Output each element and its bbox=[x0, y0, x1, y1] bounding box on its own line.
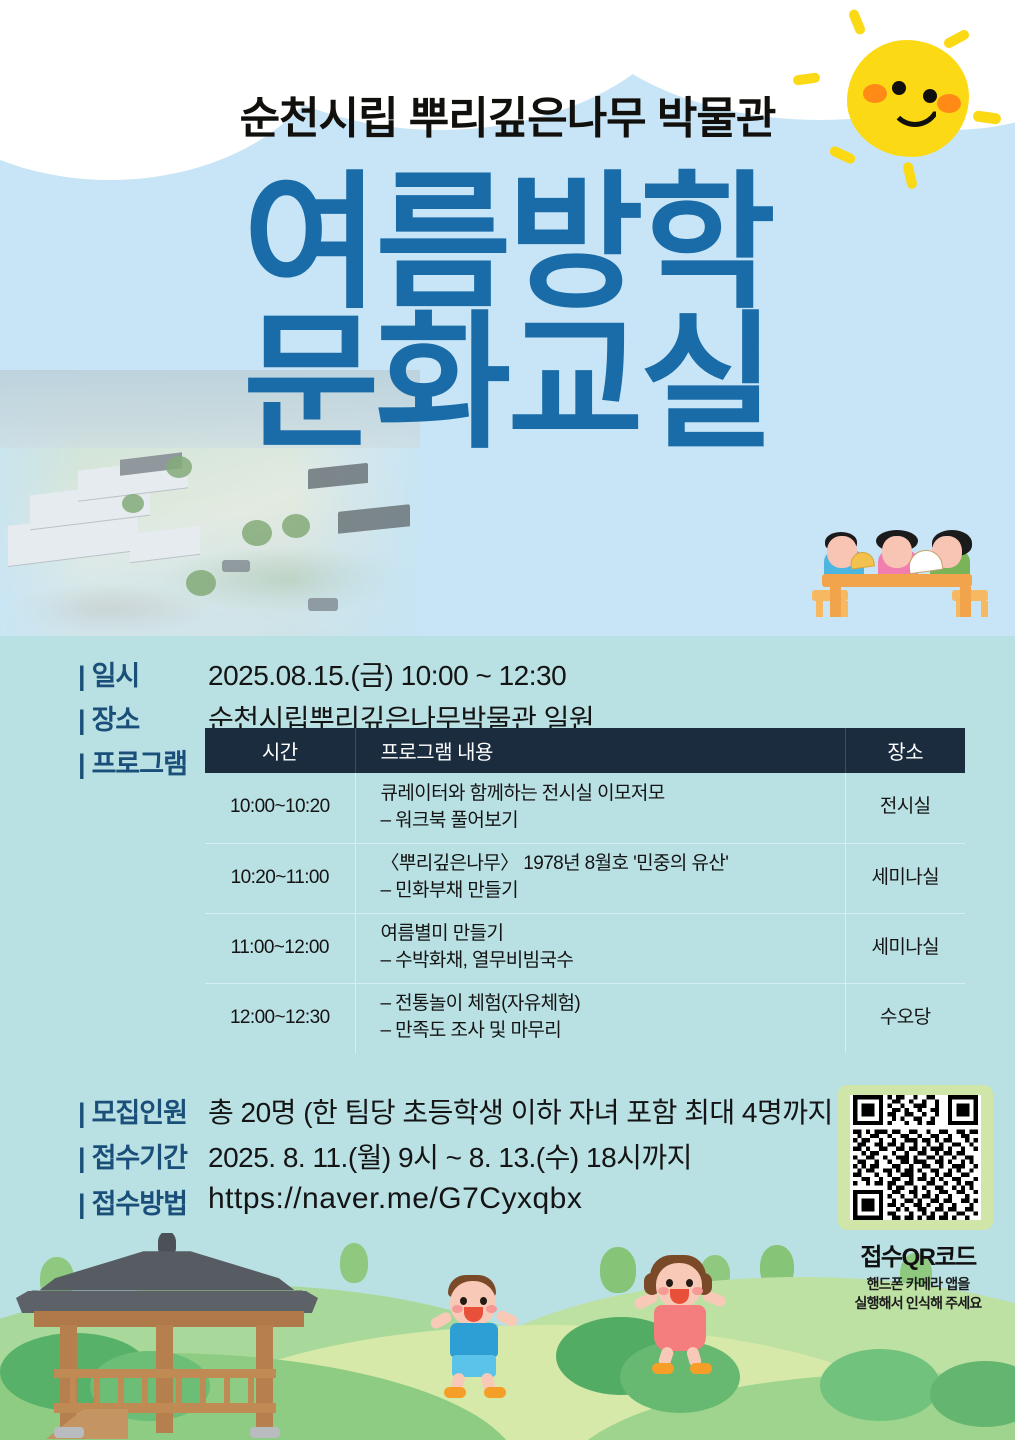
label-place-text: 장소 bbox=[92, 705, 140, 735]
th-place: 장소 bbox=[845, 728, 965, 773]
table-top bbox=[822, 574, 972, 587]
boy-shoe bbox=[444, 1387, 466, 1398]
label-method: |접수방법 bbox=[78, 1182, 208, 1221]
boy-eye-icon bbox=[480, 1297, 487, 1305]
boy-cheek-icon bbox=[452, 1305, 463, 1313]
label-method-text: 접수방법 bbox=[92, 1189, 187, 1219]
tree-shape bbox=[340, 1243, 368, 1283]
stool-leg bbox=[816, 601, 823, 617]
running-girl-illustration bbox=[640, 1255, 730, 1375]
qr-sub-line-2: 실행해서 인식해 주세요 bbox=[838, 1294, 998, 1313]
info-row-period: |접수기간 2025. 8. 11.(월) 9시 ~ 8. 13.(수) 18시… bbox=[78, 1136, 692, 1176]
boy-shoe bbox=[484, 1387, 506, 1398]
korean-pavilion bbox=[18, 1233, 318, 1439]
photo-hanok bbox=[308, 463, 368, 489]
sun-ray bbox=[828, 145, 857, 165]
info-row-program: |프로그램 bbox=[78, 742, 208, 781]
pavilion-finial bbox=[158, 1233, 176, 1253]
table-header-row: 시간 프로그램 내용 장소 bbox=[205, 728, 965, 773]
label-date: |일시 bbox=[78, 654, 208, 693]
bush-shape bbox=[820, 1349, 940, 1421]
cell-place: 세미나실 bbox=[845, 913, 965, 983]
museum-name: 순천시립 뿌리깊은나무 박물관 bbox=[0, 82, 1015, 146]
pavilion-baluster bbox=[248, 1378, 254, 1403]
capacity-pre: 총 20명 (한 팀당 초등학생 이하 자녀 포함 최대 4명까지 bbox=[208, 1097, 840, 1128]
pavilion-base-stone bbox=[250, 1427, 280, 1438]
photo-car bbox=[308, 598, 338, 611]
bar-mark: | bbox=[78, 1143, 85, 1173]
photo-car bbox=[222, 560, 250, 572]
table-leg bbox=[830, 587, 841, 617]
cell-detail: – 전통놀이 체험(자유체험) – 만족도 조사 및 마무리 bbox=[355, 983, 845, 1053]
poster-root: 순천시립 뿌리깊은나무 박물관 여름방학 문화교실 |일시 2025.08.15… bbox=[0, 0, 1015, 1440]
pavilion-base-stone bbox=[54, 1427, 84, 1438]
cell-time: 11:00~12:00 bbox=[205, 913, 355, 983]
table-leg bbox=[960, 587, 971, 617]
stool-leg bbox=[841, 601, 848, 617]
girl-eye-icon bbox=[686, 1279, 693, 1287]
child-head bbox=[882, 536, 912, 568]
title-line-1: 여름방학 bbox=[0, 176, 1015, 312]
page-title: 여름방학 문화교실 bbox=[0, 176, 1015, 452]
qr-instructions: 핸드폰 카메라 앱을 실행해서 인식해 주세요 bbox=[838, 1275, 998, 1313]
pavilion-column bbox=[256, 1325, 273, 1433]
qr-sub-line-1: 핸드폰 카메라 앱을 bbox=[838, 1275, 998, 1294]
photo-tree bbox=[282, 514, 310, 538]
girl-shoe bbox=[652, 1363, 674, 1374]
detail-line-2: – 수박화채, 열무비빔국수 bbox=[381, 948, 845, 975]
boy-arm bbox=[495, 1309, 520, 1328]
pavilion-baluster bbox=[70, 1378, 76, 1403]
detail-line-2: – 민화부채 만들기 bbox=[381, 878, 845, 905]
pavilion-railing bbox=[54, 1369, 276, 1378]
sun-ray bbox=[847, 8, 866, 36]
running-boy-illustration bbox=[434, 1275, 524, 1395]
photo-tree bbox=[186, 570, 216, 596]
cell-place: 전시실 bbox=[845, 773, 965, 843]
label-period-text: 접수기간 bbox=[92, 1143, 187, 1173]
qr-panel bbox=[838, 1085, 993, 1230]
bar-mark: | bbox=[78, 661, 85, 691]
label-date-text: 일시 bbox=[92, 661, 140, 691]
boy-cheek-icon bbox=[486, 1305, 497, 1313]
label-place: |장소 bbox=[78, 698, 208, 737]
detail-line-1: – 전통놀이 체험(자유체험) bbox=[381, 991, 845, 1018]
label-period: |접수기간 bbox=[78, 1136, 208, 1175]
qr-title: 접수QR코드 bbox=[838, 1237, 998, 1272]
pavilion-baluster bbox=[176, 1378, 182, 1403]
pavilion-column bbox=[156, 1325, 173, 1433]
table-row: 10:20~11:00 〈뿌리깊은나무〉 1978년 8월호 '민중의 유산' … bbox=[205, 843, 965, 913]
cell-detail: 여름별미 만들기 – 수박화채, 열무비빔국수 bbox=[355, 913, 845, 983]
value-period: 2025. 8. 11.(월) 9시 ~ 8. 13.(수) 18시까지 bbox=[208, 1136, 692, 1176]
pavilion-eave bbox=[16, 1291, 318, 1313]
photo-building bbox=[130, 526, 200, 563]
detail-line-1: 〈뿌리깊은나무〉 1978년 8월호 '민중의 유산' bbox=[381, 851, 845, 878]
girl-shoe bbox=[690, 1363, 712, 1374]
qr-section: 접수QR코드 핸드폰 카메라 앱을 실행해서 인식해 주세요 bbox=[838, 1085, 998, 1313]
value-date: 2025.08.15.(금) 10:00 ~ 12:30 bbox=[208, 654, 566, 694]
bar-mark: | bbox=[78, 1189, 85, 1219]
cell-detail: 〈뿌리깊은나무〉 1978년 8월호 '민중의 유산' – 민화부채 만들기 bbox=[355, 843, 845, 913]
detail-line-2: – 워크북 풀어보기 bbox=[381, 808, 845, 835]
photo-tree bbox=[242, 520, 272, 546]
table-row: 11:00~12:00 여름별미 만들기 – 수박화채, 열무비빔국수 세미나실 bbox=[205, 913, 965, 983]
registration-url[interactable]: https://naver.me/G7Cyxqbx bbox=[208, 1182, 582, 1216]
table-row: 12:00~12:30 – 전통놀이 체험(자유체험) – 만족도 조사 및 마… bbox=[205, 983, 965, 1053]
cell-time: 12:00~12:30 bbox=[205, 983, 355, 1053]
photo-tree bbox=[122, 494, 144, 513]
girl-cheek-icon bbox=[692, 1287, 703, 1295]
program-table: 시간 프로그램 내용 장소 10:00~10:20 큐레이터와 함께하는 전시실… bbox=[205, 728, 965, 1053]
cell-time: 10:20~11:00 bbox=[205, 843, 355, 913]
info-row-date: |일시 2025.08.15.(금) 10:00 ~ 12:30 bbox=[78, 654, 566, 694]
girl-eye-icon bbox=[666, 1279, 673, 1287]
pavilion-baluster bbox=[118, 1378, 124, 1403]
cell-detail: 큐레이터와 함께하는 전시실 이모저모 – 워크북 풀어보기 bbox=[355, 773, 845, 843]
pavilion-baluster bbox=[94, 1378, 100, 1403]
label-capacity: |모집인원 bbox=[78, 1091, 208, 1130]
pavilion-baluster bbox=[142, 1378, 148, 1403]
title-line-2: 문화교실 bbox=[0, 316, 1015, 452]
boy-eye-icon bbox=[460, 1297, 467, 1305]
detail-line-1: 큐레이터와 함께하는 전시실 이모저모 bbox=[381, 781, 845, 808]
tree-shape bbox=[600, 1247, 636, 1293]
bar-mark: | bbox=[78, 749, 85, 779]
th-detail: 프로그램 내용 bbox=[355, 728, 845, 773]
th-time: 시간 bbox=[205, 728, 355, 773]
stool-leg bbox=[981, 601, 988, 617]
photo-tree bbox=[166, 456, 192, 478]
info-row-method: |접수방법 https://naver.me/G7Cyxqbx bbox=[78, 1182, 582, 1221]
sun-ray bbox=[942, 28, 971, 50]
cell-place: 수오당 bbox=[845, 983, 965, 1053]
kids-at-table-illustration bbox=[800, 528, 1000, 623]
cell-place: 세미나실 bbox=[845, 843, 965, 913]
bar-mark: | bbox=[78, 1098, 85, 1128]
qr-code-image[interactable] bbox=[850, 1095, 981, 1220]
girl-cheek-icon bbox=[658, 1287, 669, 1295]
photo-hanok bbox=[338, 504, 410, 534]
boy-shirt bbox=[450, 1323, 498, 1357]
label-program-text: 프로그램 bbox=[92, 749, 187, 779]
cell-time: 10:00~10:20 bbox=[205, 773, 355, 843]
detail-line-2: – 만족도 조사 및 마무리 bbox=[381, 1018, 845, 1045]
pavilion-baluster bbox=[200, 1378, 206, 1403]
detail-line-1: 여름별미 만들기 bbox=[381, 921, 845, 948]
girl-dress bbox=[654, 1305, 706, 1351]
label-capacity-text: 모집인원 bbox=[92, 1098, 187, 1128]
label-program: |프로그램 bbox=[78, 742, 208, 781]
bar-mark: | bbox=[78, 705, 85, 735]
pavilion-baluster bbox=[224, 1378, 230, 1403]
table-row: 10:00~10:20 큐레이터와 함께하는 전시실 이모저모 – 워크북 풀어… bbox=[205, 773, 965, 843]
